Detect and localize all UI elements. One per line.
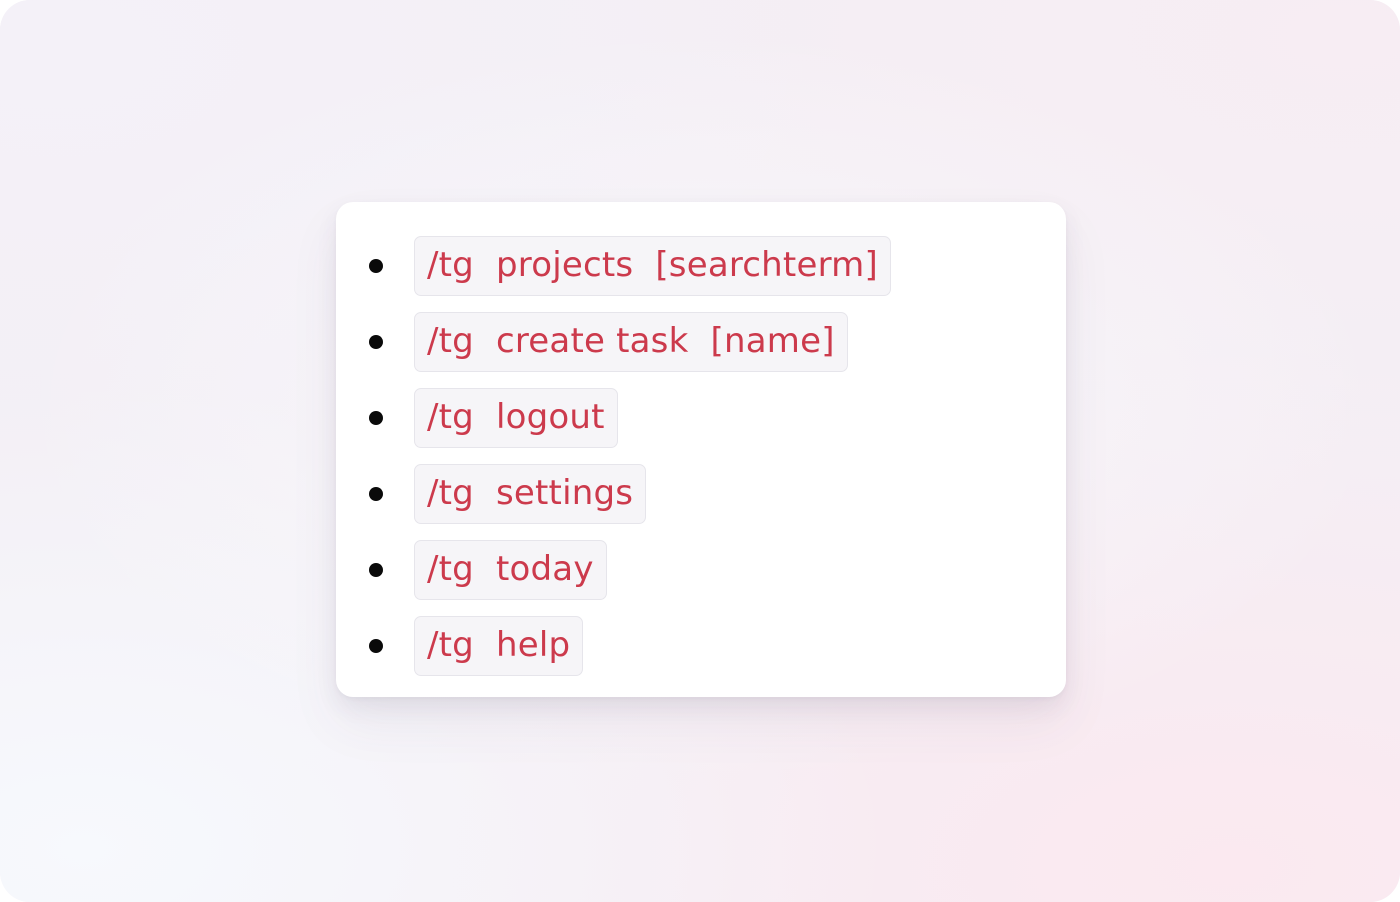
command-chip[interactable]: /tg logout xyxy=(414,388,618,448)
command-chip-wrapper: /tg today xyxy=(414,540,607,600)
command-chip[interactable]: /tg settings xyxy=(414,464,646,524)
list-item[interactable]: /tg help xyxy=(336,608,1066,684)
command-chip[interactable]: /tg help xyxy=(414,616,583,676)
bullet-icon xyxy=(369,335,383,349)
list-item[interactable]: /tg logout xyxy=(336,380,1066,456)
page-backdrop: /tg projects [searchterm] /tg create tas… xyxy=(0,0,1400,902)
command-card: /tg projects [searchterm] /tg create tas… xyxy=(336,202,1066,697)
command-chip-wrapper: /tg projects [searchterm] xyxy=(414,236,891,296)
bullet-icon xyxy=(369,563,383,577)
command-chip-wrapper: /tg help xyxy=(414,616,583,676)
bullet-icon xyxy=(369,411,383,425)
bullet-icon xyxy=(369,639,383,653)
command-list: /tg projects [searchterm] /tg create tas… xyxy=(336,228,1066,684)
command-chip-wrapper: /tg logout xyxy=(414,388,618,448)
command-chip-wrapper: /tg create task [name] xyxy=(414,312,848,372)
bullet-icon xyxy=(369,487,383,501)
command-chip[interactable]: /tg create task [name] xyxy=(414,312,848,372)
list-item[interactable]: /tg create task [name] xyxy=(336,304,1066,380)
bullet-icon xyxy=(369,259,383,273)
command-chip[interactable]: /tg today xyxy=(414,540,607,600)
command-chip[interactable]: /tg projects [searchterm] xyxy=(414,236,891,296)
list-item[interactable]: /tg projects [searchterm] xyxy=(336,228,1066,304)
command-chip-wrapper: /tg settings xyxy=(414,464,646,524)
list-item[interactable]: /tg settings xyxy=(336,456,1066,532)
list-item[interactable]: /tg today xyxy=(336,532,1066,608)
